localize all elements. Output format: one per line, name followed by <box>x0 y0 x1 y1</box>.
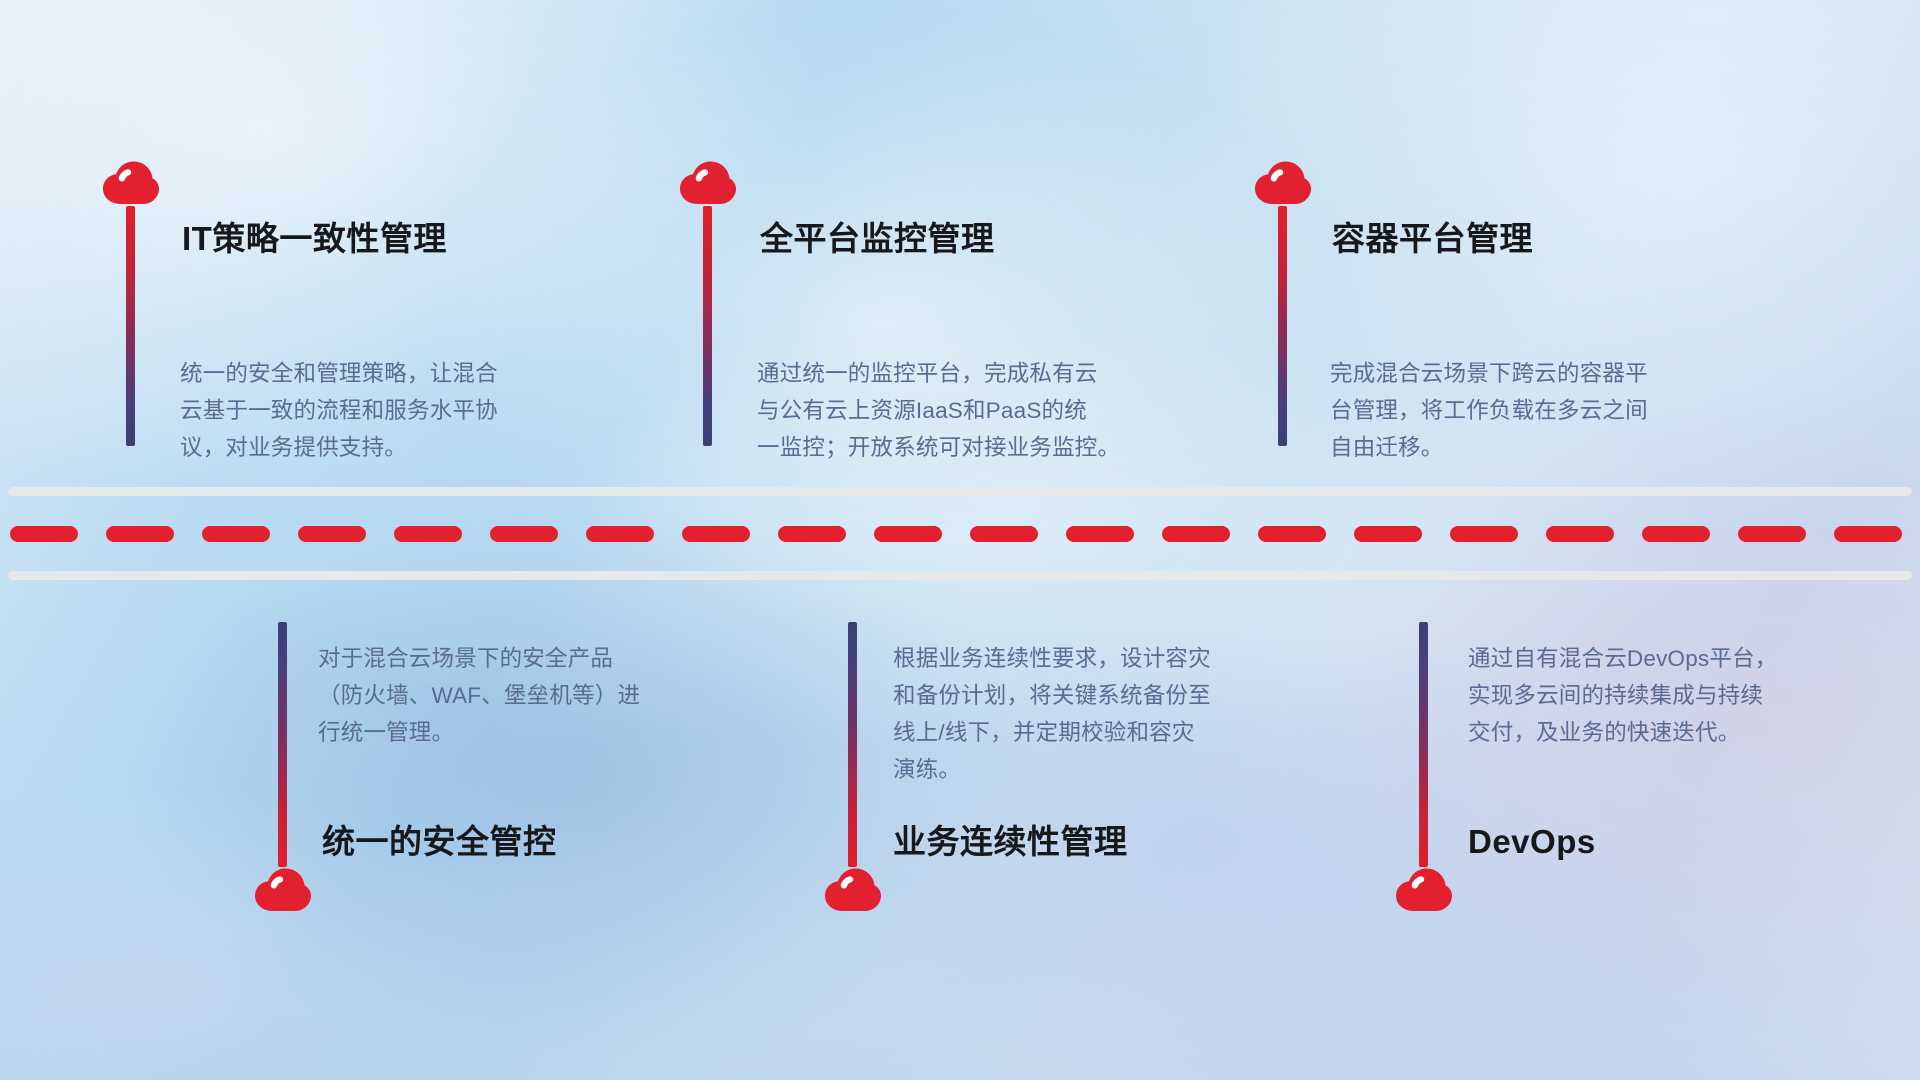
divider-dash <box>298 526 366 542</box>
pin-stem <box>1278 206 1287 446</box>
bottom-pin-2 <box>822 622 884 913</box>
top-heading-1: IT策略一致性管理 <box>182 222 447 255</box>
divider-dash <box>970 526 1038 542</box>
divider-dash <box>586 526 654 542</box>
cloud-icon <box>677 160 739 206</box>
top-pin-1 <box>100 160 162 446</box>
divider-dashed-line <box>0 525 1920 542</box>
pin-stem <box>126 206 135 446</box>
pin-stem <box>703 206 712 446</box>
body-line: 议，对业务提供支持。 <box>180 429 620 466</box>
top-heading-2: 全平台监控管理 <box>760 222 995 255</box>
divider-dash <box>778 526 846 542</box>
divider-dash <box>1258 526 1326 542</box>
bottom-body-1: 对于混合云场景下的安全产品 （防火墙、WAF、堡垒机等）进 行统一管理。 <box>318 640 758 751</box>
pin-stem <box>278 622 287 867</box>
body-line: 根据业务连续性要求，设计容灾 <box>893 640 1343 677</box>
body-line: 统一的安全和管理策略，让混合 <box>180 355 620 392</box>
body-line: 和备份计划，将关键系统备份至 <box>893 677 1343 714</box>
body-line: 行统一管理。 <box>318 714 758 751</box>
divider-dash <box>1738 526 1806 542</box>
pin-stem <box>848 622 857 867</box>
divider-dash <box>490 526 558 542</box>
body-line: 对于混合云场景下的安全产品 <box>318 640 758 677</box>
divider-dash <box>106 526 174 542</box>
body-line: （防火墙、WAF、堡垒机等）进 <box>318 677 758 714</box>
cloud-icon <box>1252 160 1314 206</box>
top-pin-2 <box>677 160 739 446</box>
body-line: 与公有云上资源IaaS和PaaS的统 <box>757 392 1217 429</box>
top-body-2: 通过统一的监控平台，完成私有云 与公有云上资源IaaS和PaaS的统 一监控；开… <box>757 355 1217 466</box>
pin-stem <box>1419 622 1428 867</box>
divider-dash <box>1546 526 1614 542</box>
divider-dash <box>682 526 750 542</box>
bottom-heading-3: DevOps <box>1468 825 1596 858</box>
body-line: 通过自有混合云DevOps平台， <box>1468 640 1908 677</box>
cloud-icon <box>252 867 314 913</box>
top-heading-3: 容器平台管理 <box>1332 222 1533 255</box>
divider-dash <box>394 526 462 542</box>
divider-dash <box>1642 526 1710 542</box>
body-line: 演练。 <box>893 751 1343 788</box>
top-body-1: 统一的安全和管理策略，让混合 云基于一致的流程和服务水平协 议，对业务提供支持。 <box>180 355 620 466</box>
divider-rule-bottom <box>8 571 1912 580</box>
cloud-icon <box>100 160 162 206</box>
body-line: 自由迁移。 <box>1330 429 1780 466</box>
cloud-icon <box>822 867 884 913</box>
divider-rule-top <box>8 487 1912 496</box>
divider-dash <box>1162 526 1230 542</box>
divider <box>0 487 1920 582</box>
body-line: 完成混合云场景下跨云的容器平 <box>1330 355 1780 392</box>
body-line: 线上/线下，并定期校验和容灾 <box>893 714 1343 751</box>
bottom-body-3: 通过自有混合云DevOps平台， 实现多云间的持续集成与持续 交付，及业务的快速… <box>1468 640 1908 751</box>
divider-dash <box>202 526 270 542</box>
divider-dash <box>1834 526 1902 542</box>
body-line: 云基于一致的流程和服务水平协 <box>180 392 620 429</box>
body-line: 实现多云间的持续集成与持续 <box>1468 677 1908 714</box>
divider-dash <box>1450 526 1518 542</box>
divider-dash <box>10 526 78 542</box>
divider-dash <box>874 526 942 542</box>
body-line: 交付，及业务的快速迭代。 <box>1468 714 1908 751</box>
divider-dash <box>1354 526 1422 542</box>
divider-dash <box>1066 526 1134 542</box>
bottom-pin-3 <box>1393 622 1455 913</box>
body-line: 一监控；开放系统可对接业务监控。 <box>757 429 1217 466</box>
bottom-heading-1: 统一的安全管控 <box>322 825 557 858</box>
bottom-heading-2: 业务连续性管理 <box>893 825 1128 858</box>
top-pin-3 <box>1252 160 1314 446</box>
top-body-3: 完成混合云场景下跨云的容器平 台管理，将工作负载在多云之间 自由迁移。 <box>1330 355 1780 466</box>
body-line: 台管理，将工作负载在多云之间 <box>1330 392 1780 429</box>
body-line: 通过统一的监控平台，完成私有云 <box>757 355 1217 392</box>
bottom-pin-1 <box>252 622 314 913</box>
bottom-body-2: 根据业务连续性要求，设计容灾 和备份计划，将关键系统备份至 线上/线下，并定期校… <box>893 640 1343 788</box>
cloud-icon <box>1393 867 1455 913</box>
